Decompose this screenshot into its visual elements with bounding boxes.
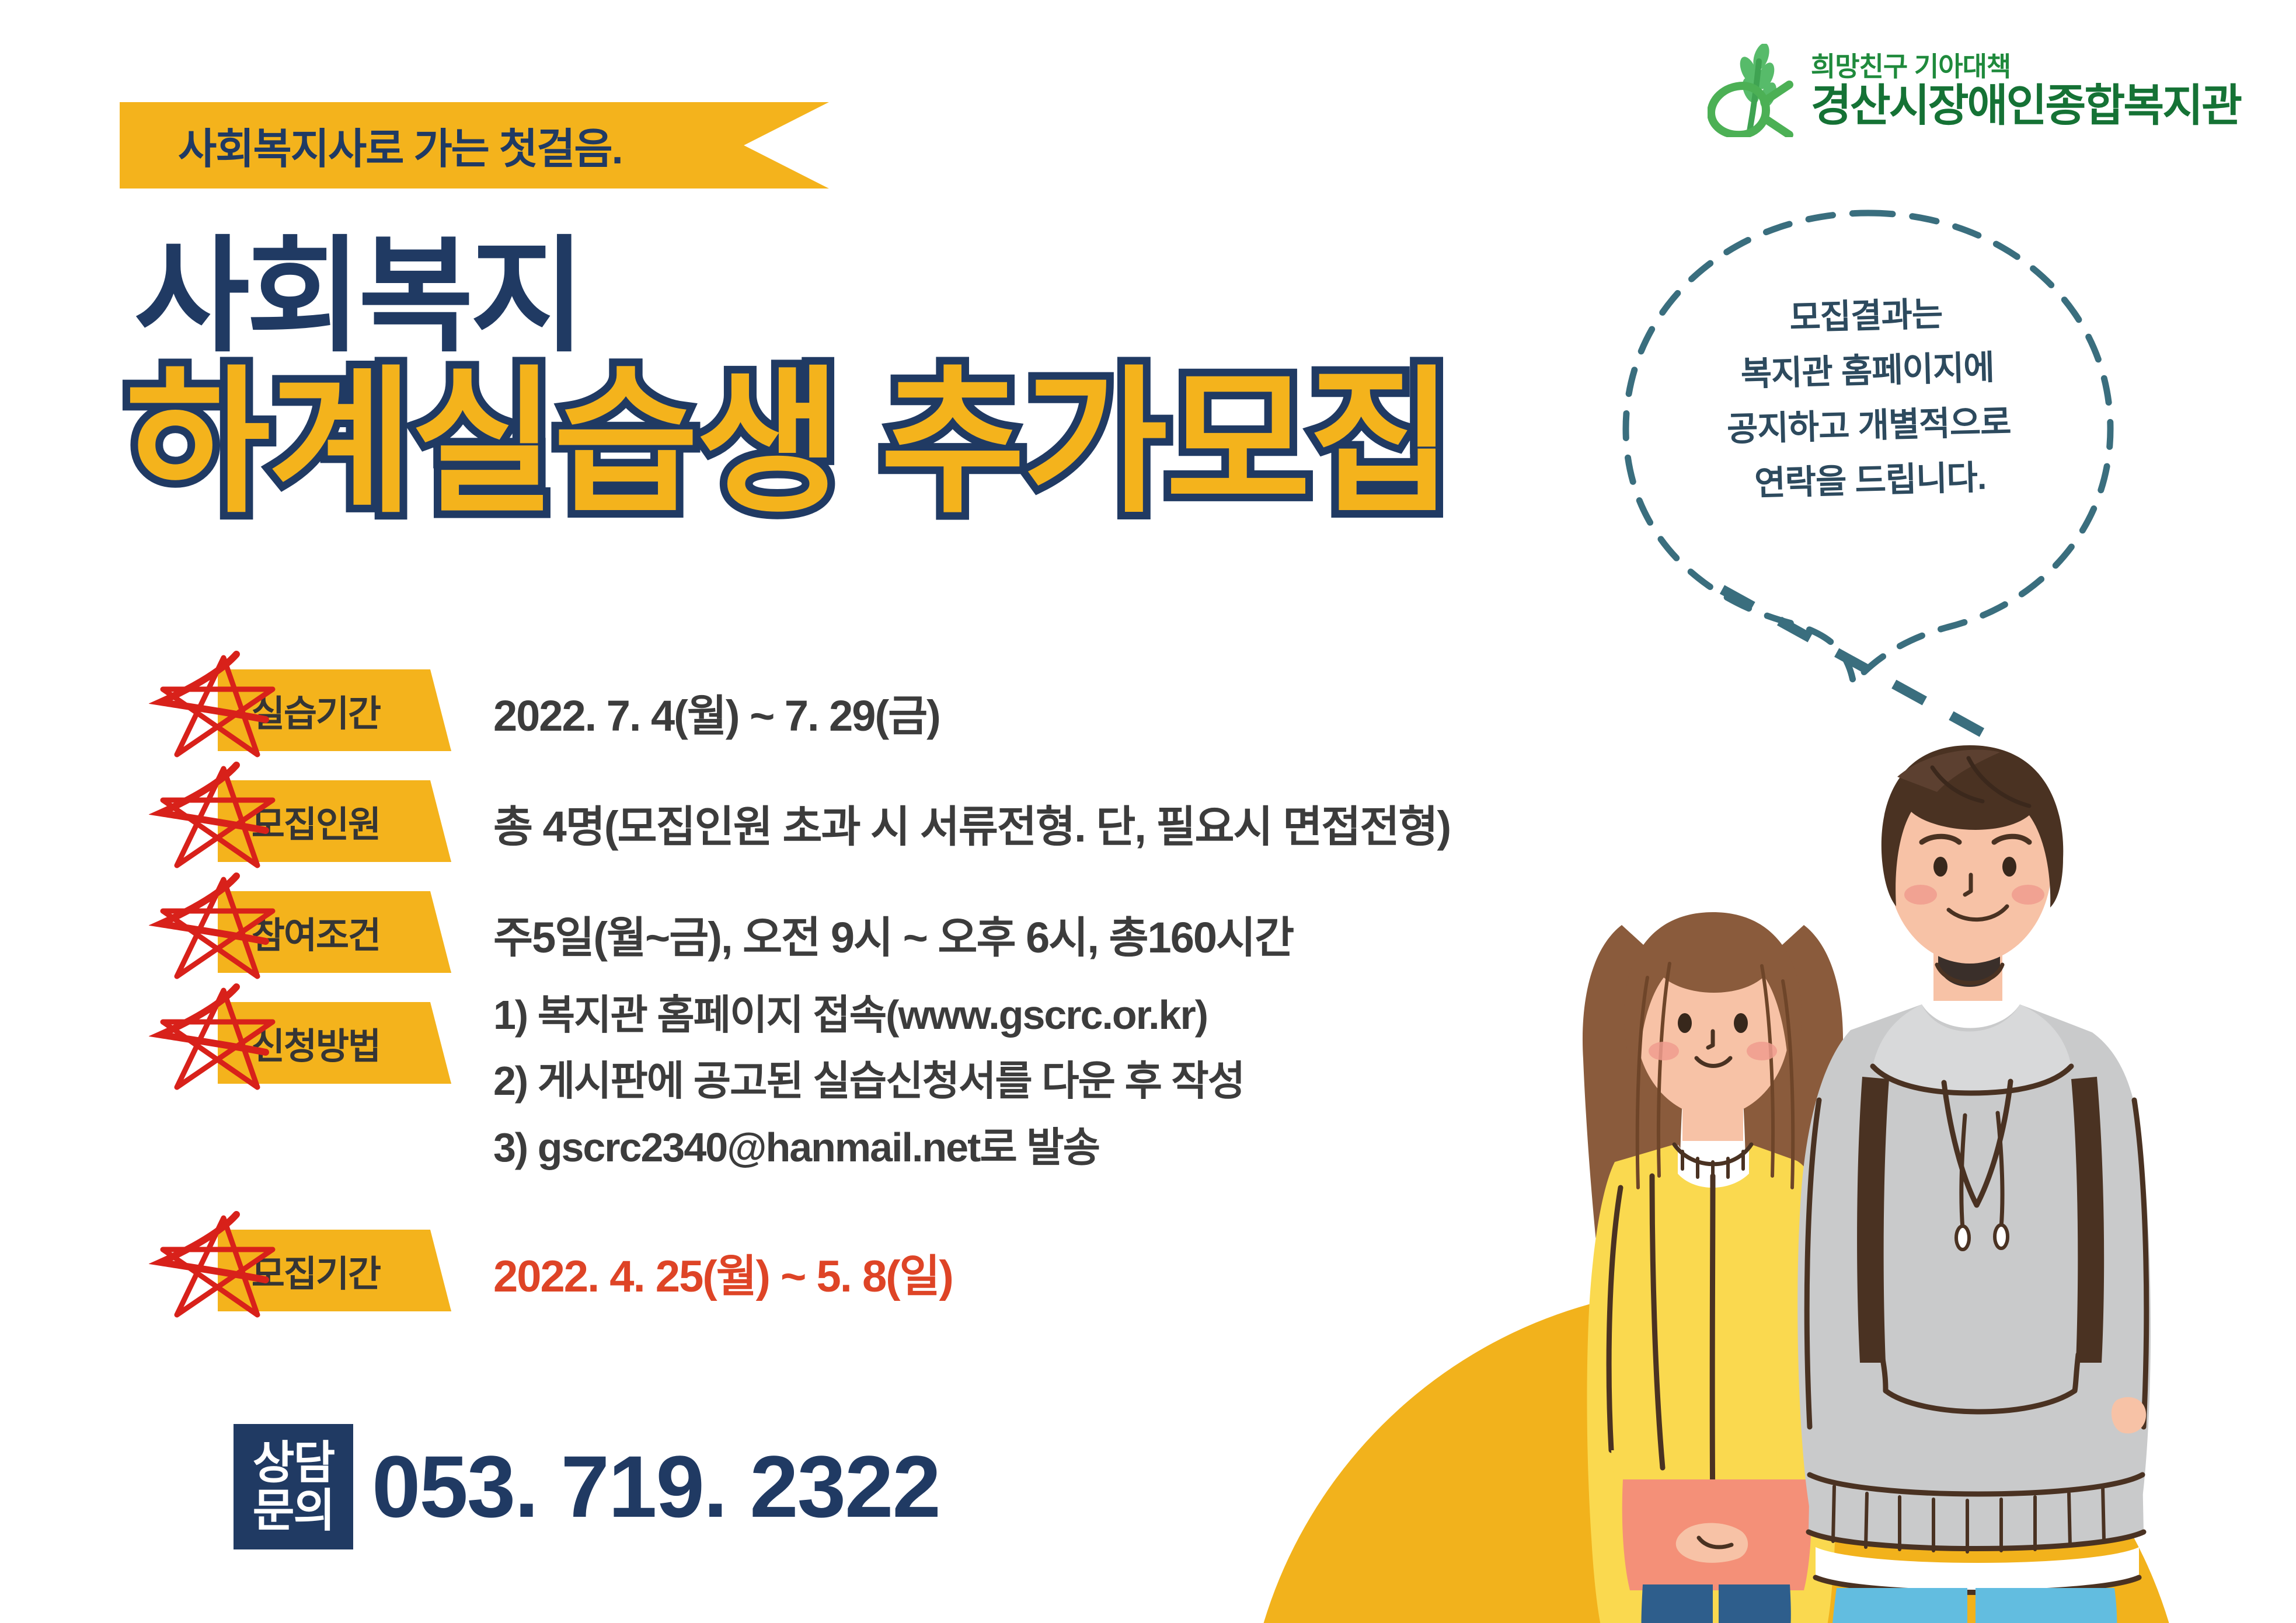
info-row-value: 2022. 4. 25(월) ~ 5. 8(일) — [493, 1217, 953, 1328]
info-row: 모집기간 2022. 4. 25(월) ~ 5. 8(일) — [149, 1217, 1667, 1328]
info-row-label: 모집인원 — [218, 780, 414, 862]
info-row-tag: 모집인원 — [218, 780, 451, 862]
contact-badge-line-1: 상담 — [253, 1439, 335, 1486]
list-item: 2) 게시판에 공고된 실습신청서를 다운 후 작성 — [493, 1048, 1244, 1114]
info-rows: 실습기간 2022. 7. 4(월) ~ 7. 29(금) 모집인원 총 4명(… — [149, 657, 1667, 1328]
contact-badge-line-2: 문의 — [253, 1487, 335, 1534]
contact-badge: 상담 문의 — [234, 1424, 353, 1549]
logo-title: 경산시장애인종합복지관 — [1811, 84, 2241, 128]
info-row-value: 2022. 7. 4(월) ~ 7. 29(금) — [493, 657, 940, 767]
info-row: 모집인원 총 4명(모집인원 초과 시 서류전형. 단, 필요시 면접전형) — [149, 767, 1667, 878]
speech-bubble: 모집결과는 복지관 홈페이지에 공지하고 개별적으로 연락을 드립니다. — [1597, 201, 2140, 686]
contact-block: 상담 문의 053. 719. 2322 — [234, 1424, 940, 1549]
logo-subtitle: 희망친구 기아대책 — [1811, 53, 2011, 81]
info-row-tag: 실습기간 — [218, 669, 451, 751]
info-row-tag: 모집기간 — [218, 1230, 451, 1311]
info-row-tag: 신청방법 — [218, 1002, 451, 1084]
info-row: 실습기간 2022. 7. 4(월) ~ 7. 29(금) — [149, 657, 1667, 767]
male-student-figure — [1797, 745, 2151, 1623]
info-row-label: 신청방법 — [218, 1002, 414, 1084]
list-item: 1) 복지관 홈페이지 접속(www.gscrc.or.kr) — [493, 982, 1244, 1048]
bubble-line-4: 연락을 드립니다. — [1654, 448, 2087, 514]
info-row: 신청방법 1) 복지관 홈페이지 접속(www.gscrc.or.kr) 2) … — [149, 989, 1667, 1100]
list-item: 3) gscrc2340@hanmail.net로 발송 — [493, 1115, 1244, 1181]
headline-line-1: 사회복지 — [134, 233, 582, 359]
info-row-tag: 참여조건 — [218, 891, 451, 973]
info-row-label: 실습기간 — [218, 669, 414, 751]
fish-leaf-logo-icon — [1708, 44, 1798, 137]
poster-canvas: 사회복지사로 가는 첫걸음. 희망친구 기아대책 — [0, 0, 2296, 1623]
info-row-value: 주5일(월~금), 오전 9시 ~ 오후 6시, 총160시간 — [493, 878, 1293, 989]
contact-phone-number: 053. 719. 2322 — [372, 1436, 940, 1537]
ribbon-banner-text: 사회복지사로 가는 첫걸음. — [178, 114, 622, 176]
info-row: 참여조건 주5일(월~금), 오전 9시 ~ 오후 6시, 총160시간 — [149, 878, 1667, 989]
application-method-list: 1) 복지관 홈페이지 접속(www.gscrc.or.kr) 2) 게시판에 … — [493, 982, 1244, 1181]
headline-line-2: 하계실습생 추가모집 — [126, 365, 1451, 522]
info-row-label: 참여조건 — [218, 891, 414, 973]
organization-logo: 희망친구 기아대책 경산시장애인종합복지관 — [1708, 44, 2241, 137]
speech-bubble-text: 모집결과는 복지관 홈페이지에 공지하고 개별적으로 연락을 드립니다. — [1649, 283, 2087, 514]
info-row-value: 총 4명(모집인원 초과 시 서류전형. 단, 필요시 면접전형) — [493, 767, 1450, 878]
info-row-label: 모집기간 — [218, 1230, 414, 1311]
